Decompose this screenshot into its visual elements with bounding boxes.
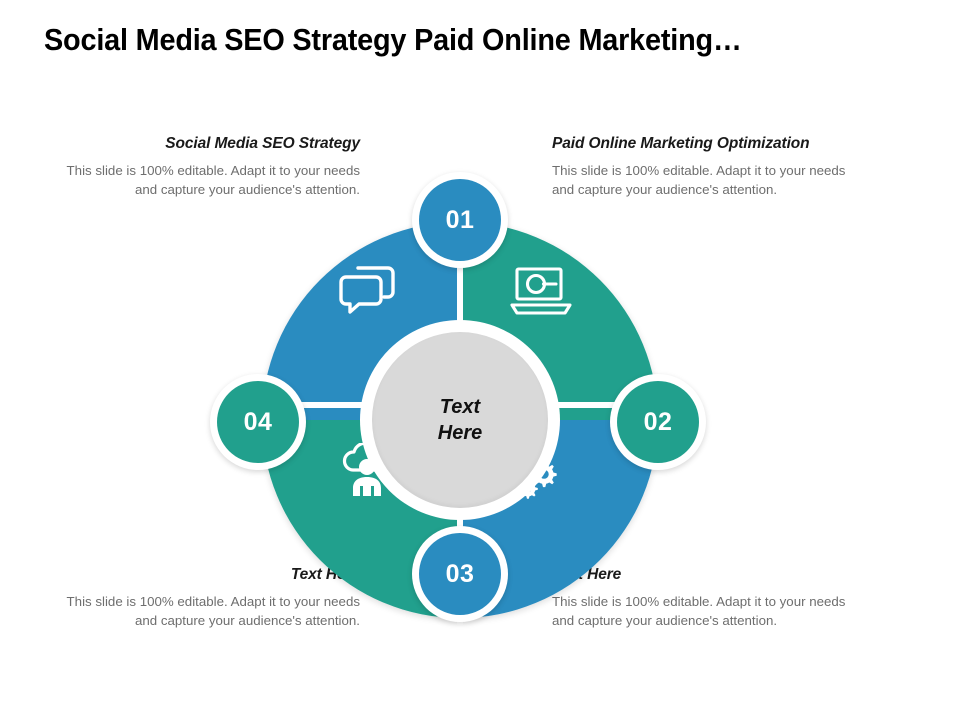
badge-03[interactable]: 03 — [412, 526, 508, 622]
laptop-search-icon — [510, 265, 572, 322]
chat-bubbles-icon — [338, 263, 396, 322]
slide-canvas: Social Media SEO Strategy Paid Online Ma… — [0, 0, 960, 720]
hub-label: Text Here — [438, 394, 482, 446]
circular-diagram: Text Here 01 02 03 04 — [210, 155, 710, 625]
badge-02-circle: 02 — [617, 381, 699, 463]
caption-top-left-heading: Social Media SEO Strategy — [60, 134, 360, 154]
page-title: Social Media SEO Strategy Paid Online Ma… — [44, 18, 862, 62]
hub-label-line2: Here — [438, 422, 482, 444]
badge-01-circle: 01 — [419, 179, 501, 261]
hub-center[interactable]: Text Here — [372, 332, 548, 508]
badge-03-number: 03 — [446, 560, 475, 589]
badge-01-number: 01 — [446, 206, 475, 235]
caption-top-right-heading: Paid Online Marketing Optimization — [552, 134, 852, 154]
badge-04-circle: 04 — [217, 381, 299, 463]
hub-label-line1: Text — [440, 396, 480, 418]
badge-04[interactable]: 04 — [210, 374, 306, 470]
badge-02[interactable]: 02 — [610, 374, 706, 470]
badge-03-circle: 03 — [419, 533, 501, 615]
badge-02-number: 02 — [644, 408, 673, 437]
badge-01[interactable]: 01 — [412, 172, 508, 268]
badge-04-number: 04 — [244, 408, 273, 437]
